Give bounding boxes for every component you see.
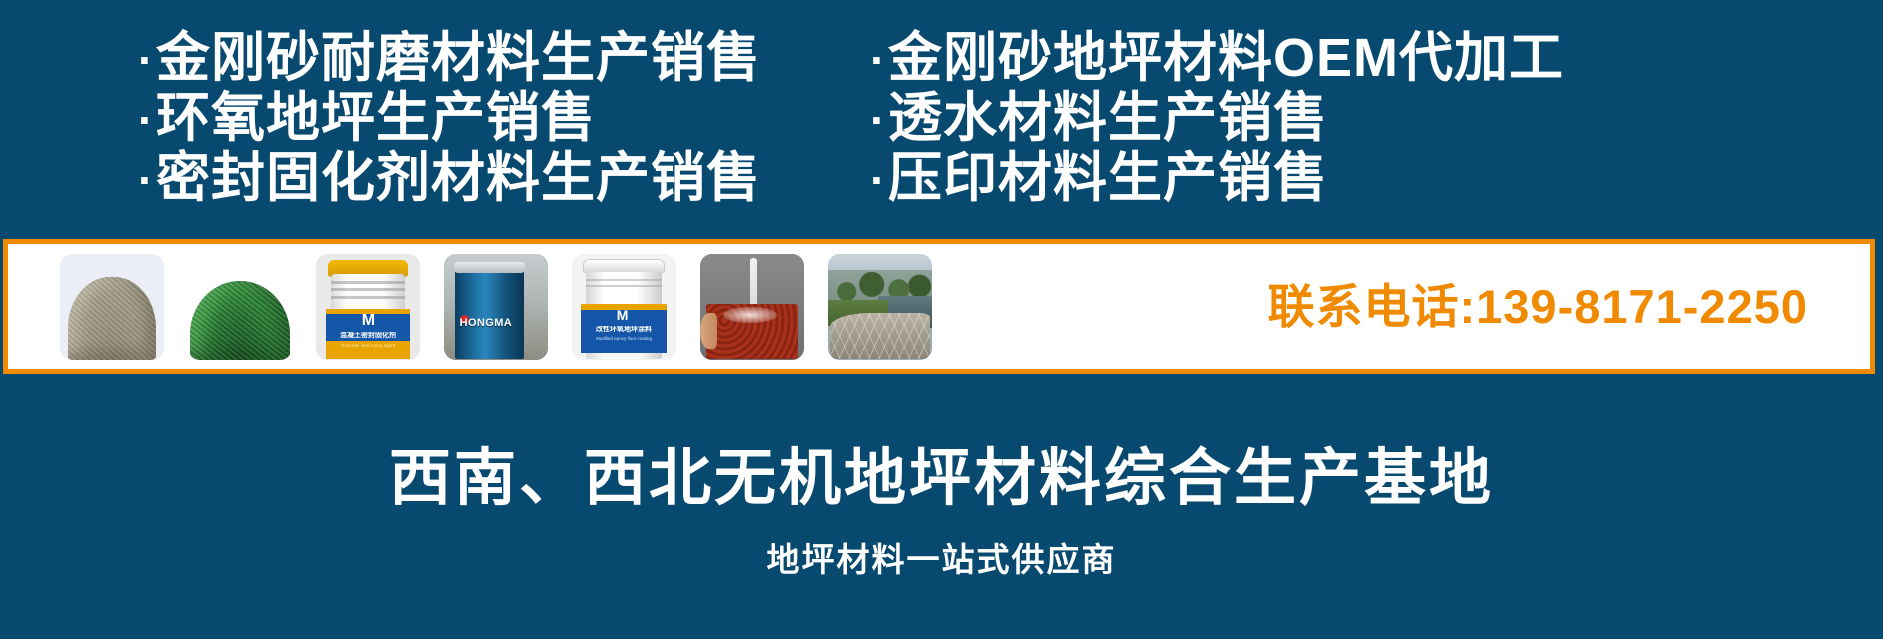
bullet-icon: · <box>870 31 888 89</box>
drum-lid-ring-shape <box>454 262 525 273</box>
hand-shape <box>700 313 717 349</box>
product-thumbnail-grey-abrasive-powder[interactable] <box>60 254 164 360</box>
product-thumbnail-paved-walkway-photo[interactable] <box>828 254 932 360</box>
product-strip-panel: M 混凝土密封固化剂 Concrete seal curing agent HO… <box>3 239 1875 374</box>
feature-label: 压印材料生产销售 <box>888 149 1328 207</box>
promo-banner: · 金刚砂耐磨材料生产销售 · 环氧地坪生产销售 · 密封固化剂材料生产销售 ·… <box>0 0 1883 639</box>
feature-label: 金刚砂地坪材料OEM代加工 <box>888 29 1564 87</box>
feature-item: · 金刚砂地坪材料OEM代加工 <box>870 29 1883 89</box>
pail-label-text-en: Concrete seal curing agent <box>322 343 414 349</box>
footer-section: 西南、西北无机地坪材料综合生产基地 地坪材料一站式供应商 <box>0 374 1883 639</box>
bullet-icon: · <box>870 91 888 149</box>
pail-rib-shape <box>331 281 406 284</box>
drum-brand-text: HONGMA <box>460 317 513 329</box>
feature-column-right: · 金刚砂地坪材料OEM代加工 · 透水材料生产销售 · 压印材料生产销售 <box>870 29 1883 209</box>
pail-rib-shape <box>331 288 406 291</box>
product-thumbnail-green-abrasive-powder[interactable] <box>188 254 292 360</box>
feature-column-left: · 金刚砂耐磨材料生产销售 · 环氧地坪生产销售 · 密封固化剂材料生产销售 <box>0 29 870 209</box>
feature-item: · 密封固化剂材料生产销售 <box>138 149 870 209</box>
powder-heap-shape <box>190 281 290 359</box>
paved-walkway-shape <box>830 313 930 360</box>
pail-label-text-en: Modified epoxy floor coating <box>577 336 671 342</box>
brand-mark-icon: M <box>617 308 629 322</box>
footer-headline: 西南、西北无机地坪材料综合生产基地 <box>389 444 1494 514</box>
bullet-icon: · <box>138 151 156 209</box>
feature-list-section: · 金刚砂耐磨材料生产销售 · 环氧地坪生产销售 · 密封固化剂材料生产销售 ·… <box>0 0 1883 238</box>
pail-label-text-cn: 改性环氧地坪涂料 <box>577 326 671 334</box>
pail-rib-shape <box>586 279 663 281</box>
feature-item: · 透水材料生产销售 <box>870 89 1883 149</box>
feature-item: · 金刚砂耐磨材料生产销售 <box>138 29 870 89</box>
pail-rib-shape <box>331 296 406 299</box>
feature-label: 环氧地坪生产销售 <box>156 89 596 147</box>
feature-label: 金刚砂耐磨材料生产销售 <box>156 29 761 87</box>
pail-label-text-cn: 混凝土密封固化剂 <box>322 332 414 340</box>
product-thumbnail-permeable-concrete-sample[interactable] <box>700 254 804 360</box>
footer-subline: 地坪材料一站式供应商 <box>767 540 1117 580</box>
bullet-icon: · <box>870 151 888 209</box>
product-thumbnail-hongma-steel-drum[interactable]: HONGMA <box>444 254 548 360</box>
bullet-icon: · <box>138 91 156 149</box>
feature-label: 密封固化剂材料生产销售 <box>156 149 761 207</box>
brand-mark-icon: M <box>362 313 375 329</box>
powder-heap-shape <box>68 277 155 360</box>
pail-rib-shape <box>586 285 663 287</box>
contact-phone-text[interactable]: 联系电话:139-8171-2250 <box>1268 282 1871 332</box>
feature-label: 透水材料生产销售 <box>888 89 1328 147</box>
bullet-icon: · <box>138 31 156 89</box>
product-thumbnail-epoxy-floor-coating-pail[interactable]: M 改性环氧地坪涂料 Modified epoxy floor coating <box>572 254 676 360</box>
product-thumbnail-list: M 混凝土密封固化剂 Concrete seal curing agent HO… <box>8 254 932 360</box>
pail-lid-shape <box>583 259 664 273</box>
feature-item: · 压印材料生产销售 <box>870 149 1883 209</box>
drum-body-shape <box>455 264 524 359</box>
product-thumbnail-concrete-sealer-pail[interactable]: M 混凝土密封固化剂 Concrete seal curing agent <box>316 254 420 360</box>
feature-item: · 环氧地坪生产销售 <box>138 89 870 149</box>
